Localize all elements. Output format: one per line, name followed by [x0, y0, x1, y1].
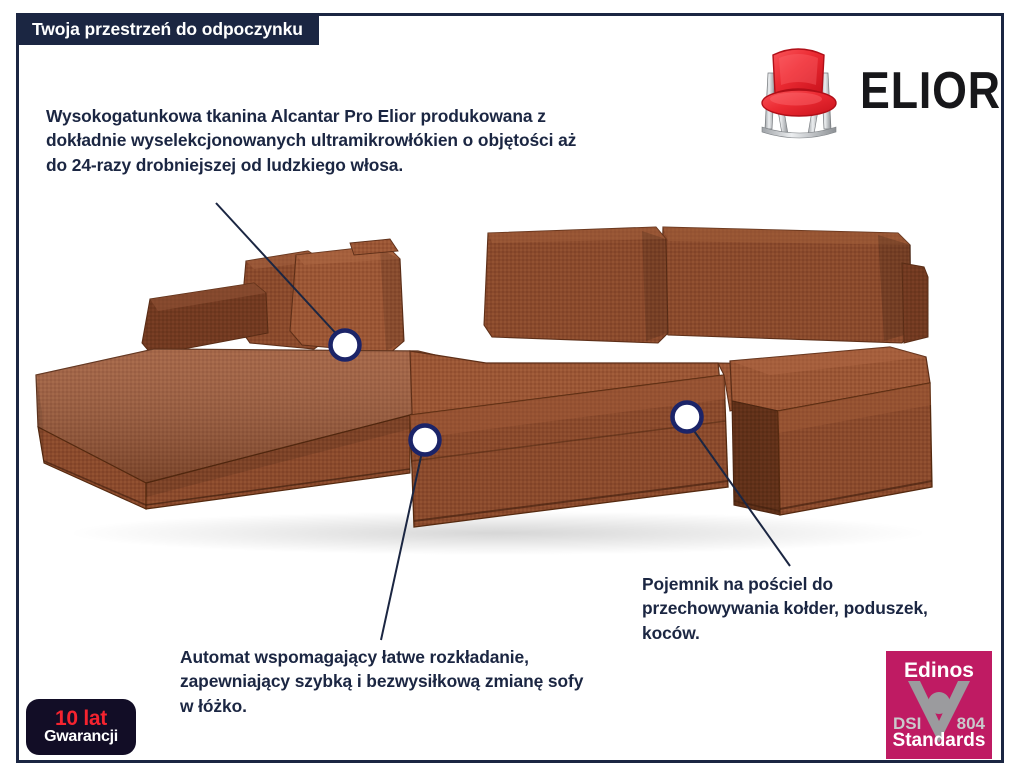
- arm-back-right: [902, 263, 928, 343]
- brand-logo: ELIOR: [752, 38, 992, 144]
- sofa-product-image: [18, 215, 993, 560]
- back-cushion-center: [484, 227, 668, 343]
- header-banner: Twoja przestrzeń do odpoczynku: [16, 13, 319, 45]
- sofa-illustration: [18, 215, 993, 560]
- edinos-name: Edinos: [886, 660, 992, 681]
- warranty-badge: 10 lat Gwarancji: [26, 699, 136, 755]
- callout-text-automat: Automat wspomagający łatwe rozkładanie, …: [180, 645, 600, 718]
- callout-text-fabric: Wysokogatunkowa tkanina Alcantar Pro Eli…: [46, 104, 586, 177]
- edinos-standards-label: Standards: [886, 731, 992, 750]
- back-cushion-right: [660, 227, 911, 343]
- armrest-right-inner-face: [732, 401, 780, 515]
- page-title: Twoja przestrzeń do odpoczynku: [32, 19, 303, 40]
- edinos-standards-badge: Edinos DSI 804 Standards: [886, 651, 992, 759]
- red-chair-icon: [752, 39, 848, 143]
- callout-text-storage: Pojemnik na pościel do przechowywania ko…: [642, 572, 942, 645]
- warranty-label: Gwarancji: [44, 729, 118, 746]
- brand-wordmark: ELIOR: [860, 65, 1001, 117]
- promo-banner: Twoja przestrzeń do odpoczynku: [0, 0, 1020, 777]
- warranty-years: 10 lat: [55, 708, 107, 729]
